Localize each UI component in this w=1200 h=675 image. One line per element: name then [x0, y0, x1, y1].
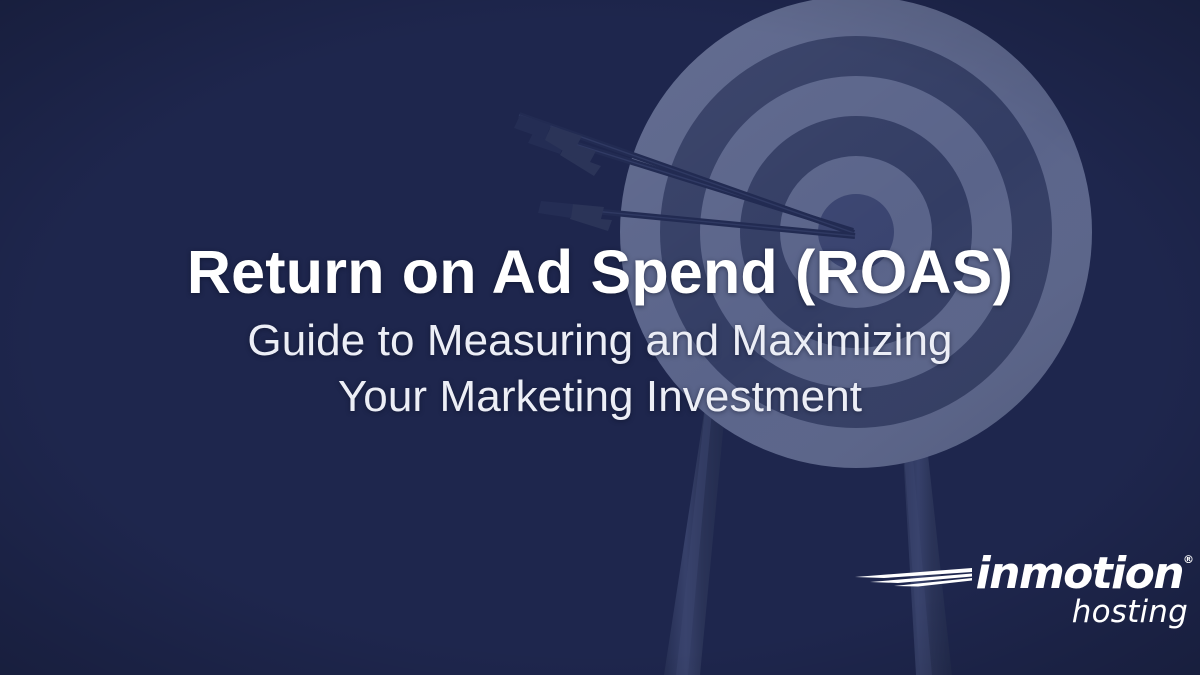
registered-trademark-icon: ® — [1183, 554, 1194, 565]
arrow-1 — [528, 131, 853, 231]
speed-lines-icon — [854, 556, 978, 590]
inmotion-hosting-logo[interactable]: inmotion ® hosting — [854, 551, 1194, 628]
logo-wordmark: inmotion — [976, 552, 1183, 596]
hero-text-block: Return on Ad Spend (ROAS) Guide to Measu… — [0, 236, 1200, 425]
page-subtitle-line-1: Guide to Measuring and Maximizing — [0, 313, 1200, 369]
feature-graphic-canvas: Return on Ad Spend (ROAS) Guide to Measu… — [0, 0, 1200, 675]
arrows — [514, 115, 855, 236]
page-subtitle-line-2: Your Marketing Investment — [0, 369, 1200, 425]
arrow-2 — [514, 115, 854, 233]
page-subtitle: Guide to Measuring and Maximizing Your M… — [0, 308, 1200, 425]
arrow-3 — [538, 201, 855, 236]
page-title: Return on Ad Spend (ROAS) — [0, 236, 1200, 308]
tripod-legs — [664, 400, 952, 675]
logo-wordmark-row: inmotion ® — [854, 551, 1194, 595]
logo-tagline: hosting — [854, 597, 1194, 628]
